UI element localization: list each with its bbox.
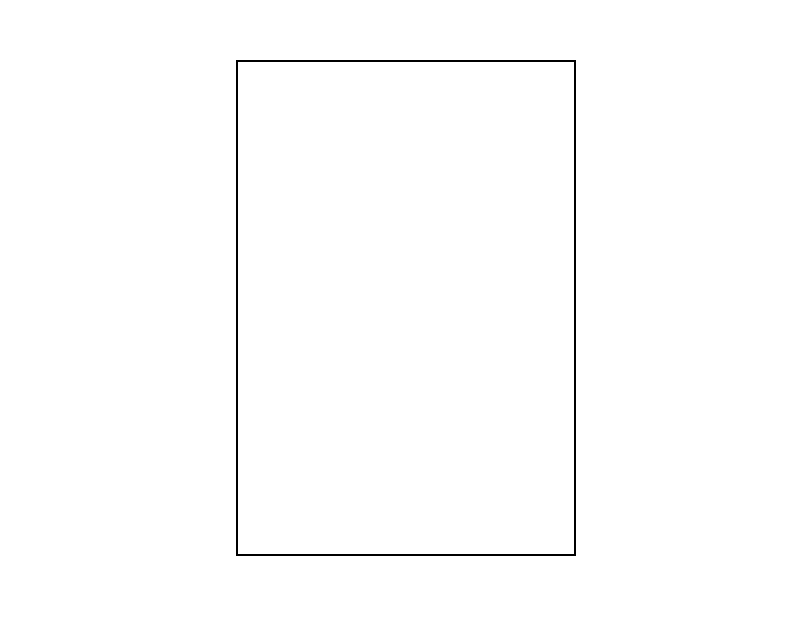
map-plot-area xyxy=(236,60,576,556)
country-borders-overlay xyxy=(238,62,574,554)
colorbar xyxy=(678,62,702,558)
